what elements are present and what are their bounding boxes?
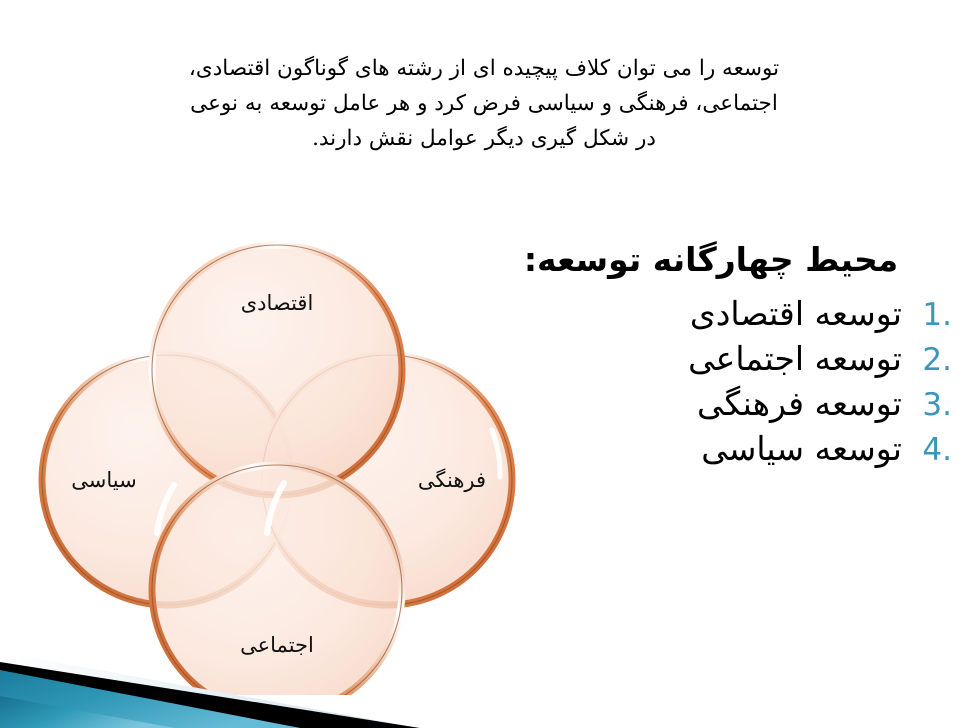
list-item: 1. توسعه اقتصادی xyxy=(452,294,952,333)
list-item-label: توسعه فرهنگی xyxy=(697,384,902,423)
intro-paragraph: توسعه را می توان کلاف پیچیده ای از رشته … xyxy=(48,52,920,156)
list-item-number: 2. xyxy=(918,342,952,378)
list-item-number: 4. xyxy=(918,432,952,468)
list-item: 3. توسعه فرهنگی xyxy=(452,384,952,423)
intro-line-2: اجتماعی، فرهنگی و سیاسی فرض کرد و هر عام… xyxy=(48,87,920,122)
list-item-number: 3. xyxy=(918,387,952,423)
list-item-label: توسعه سیاسی xyxy=(701,429,902,468)
intro-line-3: در شکل گیری دیگر عوامل نقش دارند. xyxy=(48,122,920,157)
list-item-label: توسعه اقتصادی xyxy=(690,294,902,333)
intro-line-1: توسعه را می توان کلاف پیچیده ای از رشته … xyxy=(48,52,920,87)
circle-label-economic: اقتصادی xyxy=(241,291,314,315)
slide-canvas: توسعه را می توان کلاف پیچیده ای از رشته … xyxy=(0,0,968,728)
page-title: محیط چهارگانه توسعه: xyxy=(452,240,952,280)
list-item: 2. توسعه اجتماعی xyxy=(452,339,952,378)
development-list: 1. توسعه اقتصادی 2. توسعه اجتماعی 3. توس… xyxy=(452,294,952,468)
list-item-label: توسعه اجتماعی xyxy=(688,339,902,378)
circle-label-political: سیاسی xyxy=(71,468,136,492)
list-item: 4. توسعه سیاسی xyxy=(452,429,952,468)
circle-economic xyxy=(152,245,402,495)
development-panel: محیط چهارگانه توسعه: 1. توسعه اقتصادی 2.… xyxy=(452,240,952,474)
circle-label-social: اجتماعی xyxy=(240,633,314,657)
list-item-number: 1. xyxy=(918,297,952,333)
